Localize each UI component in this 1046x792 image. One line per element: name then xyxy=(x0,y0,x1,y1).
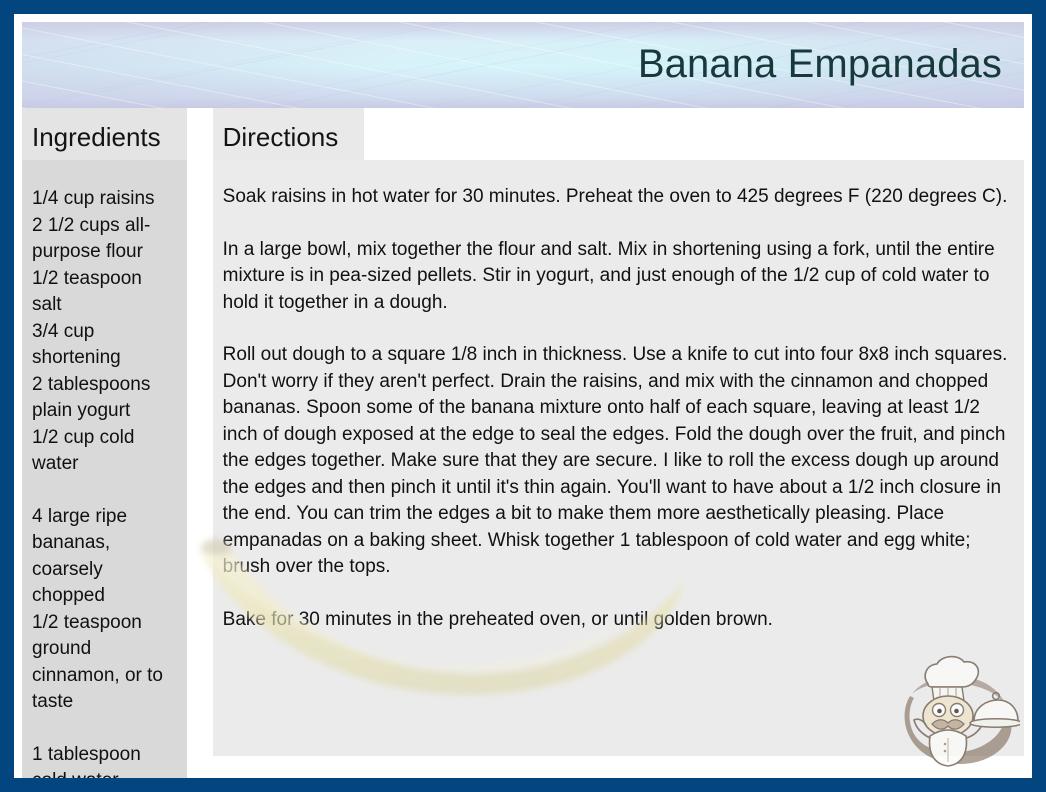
ingredients-list: 1/4 cup raisins2 1/2 cups all-purpose fl… xyxy=(22,160,187,778)
recipe-card-inner: Banana Empanadas Ingredients 1/4 cup rai… xyxy=(14,14,1032,778)
page-title: Banana Empanadas xyxy=(638,44,1002,84)
ingredient-item: 2 1/2 cups all-purpose flour xyxy=(32,213,175,266)
header-banner: Banana Empanadas xyxy=(22,22,1024,108)
ingredients-heading: Ingredients xyxy=(22,108,187,160)
ingredient-item: 3/4 cup shortening xyxy=(32,319,175,372)
direction-paragraph: Bake for 30 minutes in the preheated ove… xyxy=(223,607,1010,634)
ingredient-group-gap xyxy=(32,716,175,742)
recipe-card: Banana Empanadas Ingredients 1/4 cup rai… xyxy=(0,0,1046,792)
directions-heading: Directions xyxy=(213,108,365,160)
directions-panel: Directions Soak raisins in hot water for… xyxy=(213,108,1024,756)
ingredient-item: 2 tablespoons plain yogurt xyxy=(32,372,175,425)
ingredient-item: 1/2 teaspoon ground cinnamon, or to tast… xyxy=(32,610,175,716)
ingredient-group-gap xyxy=(32,478,175,504)
ingredient-item: 1 tablespoon cold water xyxy=(32,742,175,779)
direction-paragraph: In a large bowl, mix together the flour … xyxy=(223,237,1010,317)
direction-paragraph: Soak raisins in hot water for 30 minutes… xyxy=(223,184,1010,211)
ingredient-item: 1/4 cup raisins xyxy=(32,186,175,213)
ingredient-item: 1/2 teaspoon salt xyxy=(32,266,175,319)
ingredient-item: 4 large ripe bananas, coarsely chopped xyxy=(32,504,175,610)
ingredients-panel: Ingredients 1/4 cup raisins2 1/2 cups al… xyxy=(22,108,187,778)
content-columns: Ingredients 1/4 cup raisins2 1/2 cups al… xyxy=(22,108,1024,778)
directions-text: Soak raisins in hot water for 30 minutes… xyxy=(213,160,1024,756)
direction-paragraph: Roll out dough to a square 1/8 inch in t… xyxy=(223,342,1010,581)
ingredient-item: 1/2 cup cold water xyxy=(32,425,175,478)
